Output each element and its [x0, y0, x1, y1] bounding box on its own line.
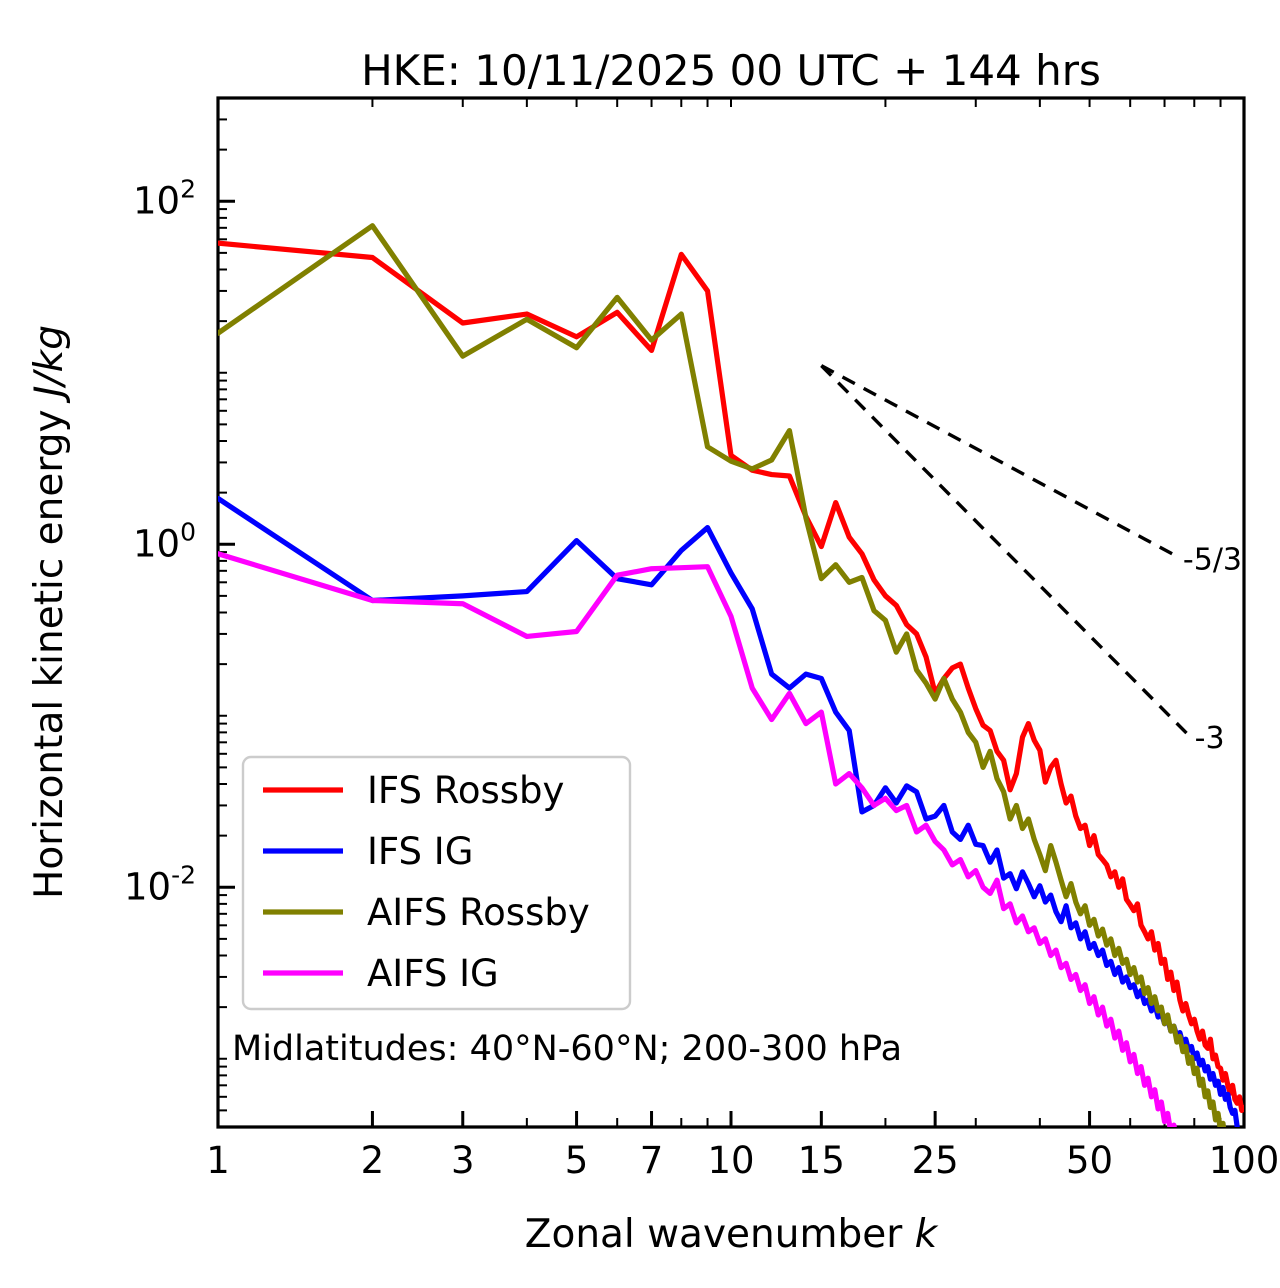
x-tick-label: 10: [707, 1139, 754, 1182]
region-annotation: Midlatitudes: 40°N-60°N; 200-300 hPa: [232, 1029, 902, 1069]
x-tick-label: 100: [1209, 1139, 1280, 1182]
x-tick-label: 25: [912, 1139, 959, 1182]
legend-label-ifs-ig: IFS IG: [367, 830, 473, 873]
chart-title: HKE: 10/11/2025 00 UTC + 144 hrs: [361, 46, 1101, 95]
x-axis-tick-labels: 1235710152550100: [206, 1139, 1279, 1182]
x-tick-label: 1: [206, 1139, 230, 1182]
x-axis-label-symbol: k: [915, 1212, 939, 1257]
figure-container: HKE: 10/11/2025 00 UTC + 144 hrs 1235710…: [0, 0, 1280, 1288]
x-tick-label: 7: [640, 1139, 664, 1182]
y-tick-label: 10-2: [124, 860, 196, 908]
reference-line-label: -5/3: [1183, 542, 1242, 577]
x-tick-label: 2: [361, 1139, 385, 1182]
x-axis-label-text: Zonal wavenumber: [525, 1212, 903, 1257]
legend-label-aifs-rossby: AIFS Rossby: [367, 891, 590, 934]
y-axis-tick-labels: 10210010-2: [124, 174, 196, 908]
svg-text:Horizontal kinetic energy J/kg: Horizontal kinetic energy J/kg: [27, 325, 72, 899]
x-axis-label: Zonal wavenumber k: [525, 1212, 939, 1257]
legend-label-aifs-ig: AIFS IG: [367, 952, 499, 995]
legend: IFS RossbyIFS IGAIFS RossbyAIFS IG: [243, 757, 630, 1009]
y-axis-label: Horizontal kinetic energy J/kg: [27, 325, 72, 899]
x-tick-label: 3: [451, 1139, 475, 1182]
svg-text:Zonal wavenumber k: Zonal wavenumber k: [525, 1212, 939, 1257]
y-axis-label-unit: J/kg: [27, 325, 72, 404]
y-axis-label-text: Horizontal kinetic energy: [27, 409, 72, 899]
x-tick-label: 15: [798, 1139, 845, 1182]
legend-label-ifs-rossby: IFS Rossby: [367, 769, 564, 812]
reference-line-label: -3: [1195, 721, 1225, 756]
x-tick-label: 5: [565, 1139, 589, 1182]
y-tick-label: 102: [133, 174, 196, 222]
hke-spectrum-chart: HKE: 10/11/2025 00 UTC + 144 hrs 1235710…: [0, 0, 1280, 1288]
x-tick-label: 50: [1066, 1139, 1113, 1182]
y-tick-label: 100: [133, 517, 196, 565]
